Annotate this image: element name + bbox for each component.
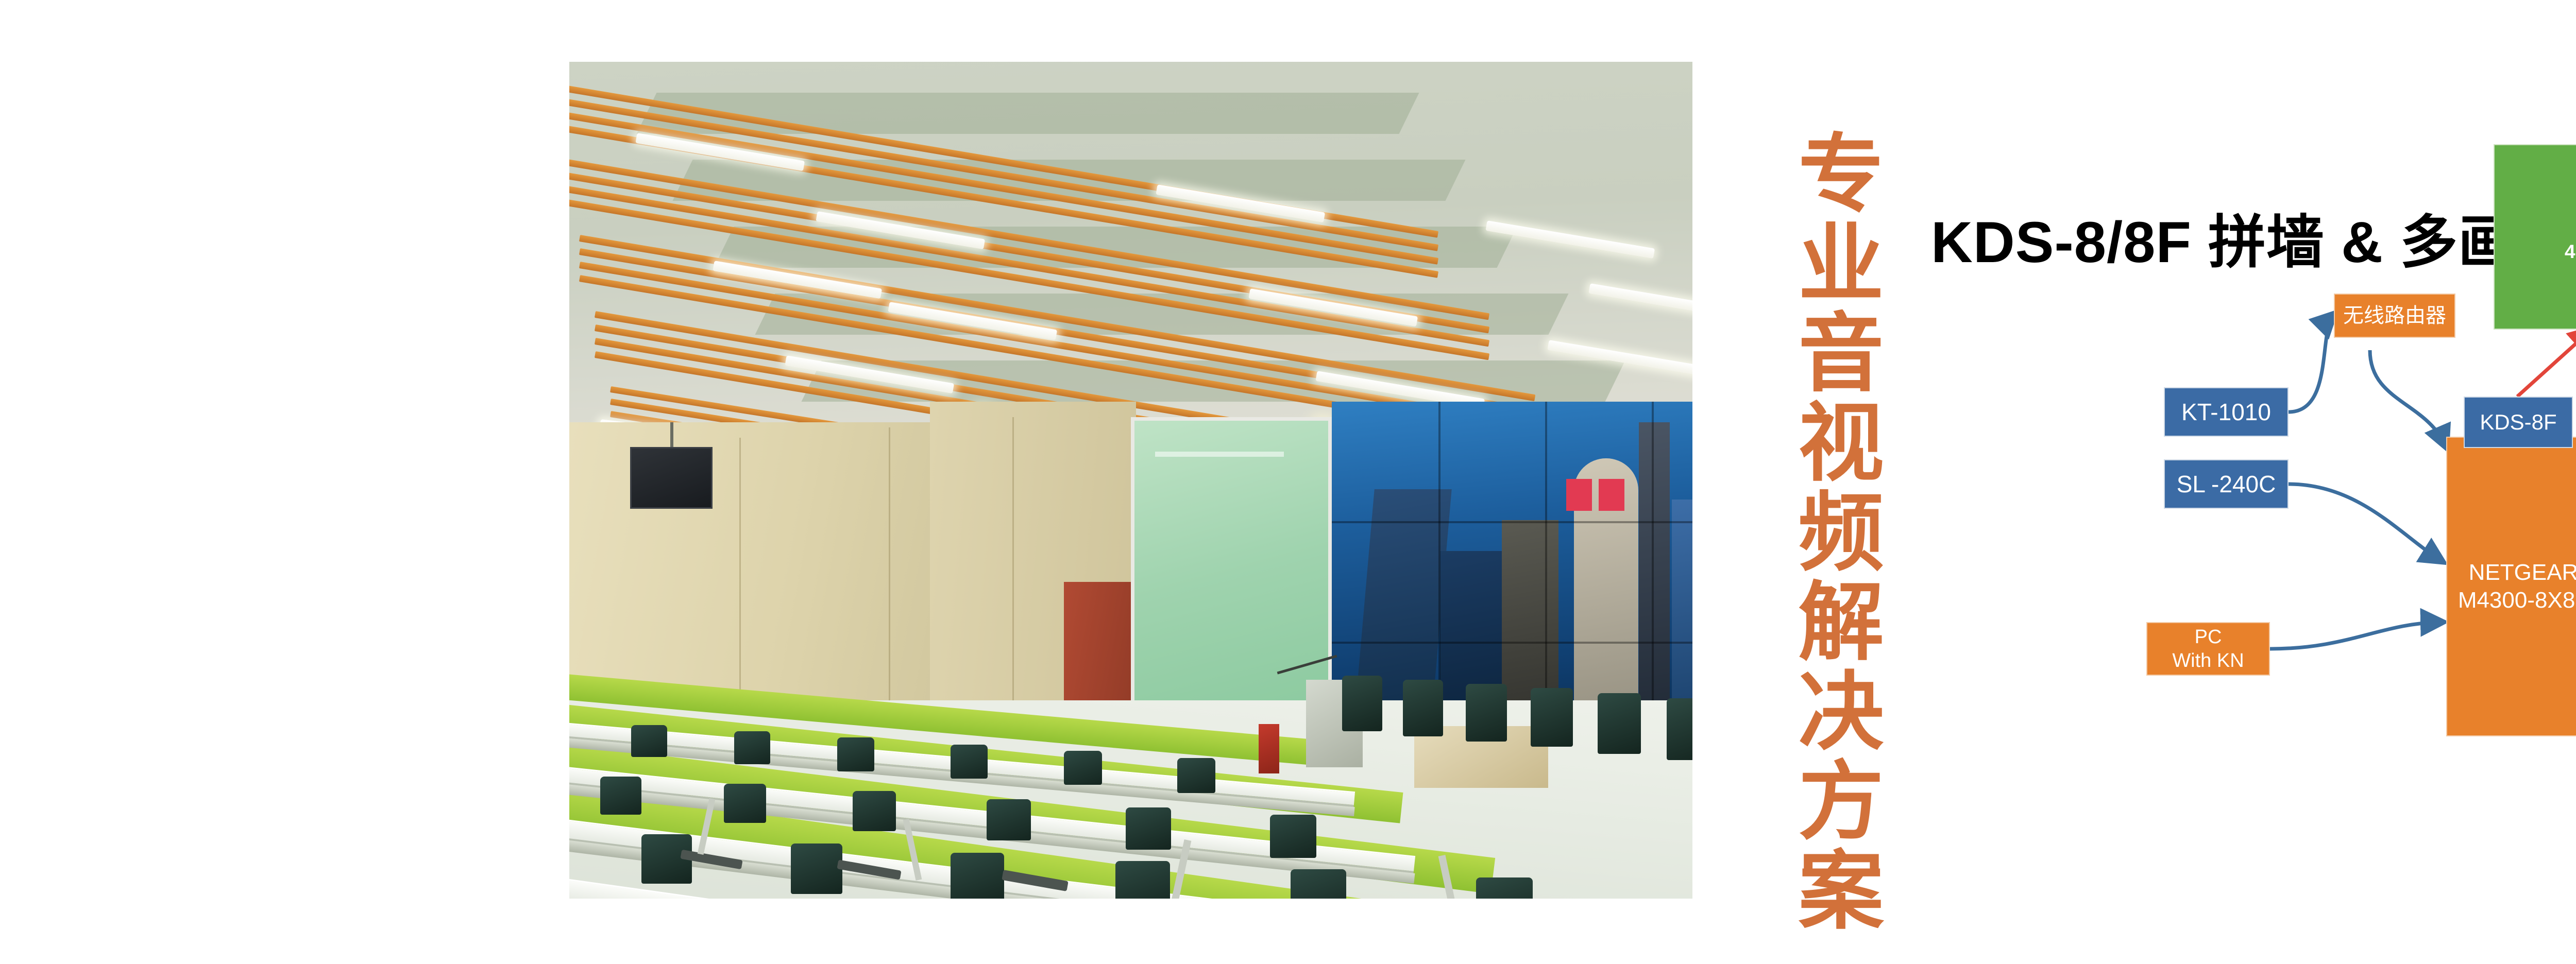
speaker-mount-rod bbox=[670, 422, 673, 449]
control-pc[interactable]: PC With KN bbox=[2146, 622, 2270, 676]
chair bbox=[951, 853, 1004, 899]
display-multiview[interactable]: 多画面 4K电视机 - 1 bbox=[2494, 144, 2576, 330]
chair bbox=[1531, 688, 1573, 747]
wireless-router-label: 无线路由器 bbox=[2343, 303, 2446, 329]
diagram-title: KDS-8/8F 拼墙 & 多画面 bbox=[1931, 196, 2574, 279]
decoder-kds8f-1-label: KDS-8F bbox=[2480, 409, 2556, 435]
chair bbox=[853, 791, 896, 831]
chair bbox=[1177, 758, 1215, 793]
chair bbox=[1291, 869, 1346, 899]
network-switch[interactable]: NETGEAR M4300-8X8F bbox=[2446, 437, 2576, 736]
page-title-vertical: 专业音视频解决方案 bbox=[1753, 129, 1876, 814]
chair bbox=[734, 731, 770, 764]
panel-bezel bbox=[1332, 521, 1692, 523]
chair bbox=[631, 725, 667, 757]
network-switch-model: M4300-8X8F bbox=[2458, 587, 2576, 614]
system-diagram: KDS-8/8F 拼墙 & 多画面 bbox=[1906, 41, 2576, 917]
chair bbox=[1476, 877, 1533, 899]
fire-extinguisher bbox=[1259, 724, 1279, 773]
slide-canvas: 4K 3,840 x 2,160 bbox=[0, 0, 2576, 964]
chair bbox=[1598, 693, 1641, 754]
chair bbox=[1403, 680, 1443, 736]
panel-bezel bbox=[1332, 642, 1692, 644]
ceiling-monitor bbox=[630, 447, 713, 509]
chair bbox=[724, 784, 766, 823]
decoder-kds8f-1[interactable]: KDS-8F bbox=[2464, 397, 2573, 448]
chair bbox=[791, 843, 842, 894]
board-glare bbox=[1155, 452, 1284, 457]
chair bbox=[1126, 807, 1171, 850]
chair bbox=[1270, 815, 1316, 858]
chair bbox=[1466, 684, 1507, 742]
source-kt1010[interactable]: KT-1010 bbox=[2164, 387, 2289, 437]
control-pc-label: PC bbox=[2195, 625, 2222, 649]
lecture-hall-photo: 4K 3,840 x 2,160 bbox=[569, 62, 1692, 899]
source-sl240c-label: SL -240C bbox=[2177, 470, 2276, 498]
chair bbox=[600, 777, 641, 815]
wireless-router[interactable]: 无线路由器 bbox=[2334, 294, 2455, 338]
chair bbox=[987, 799, 1031, 840]
source-kt1010-label: KT-1010 bbox=[2181, 398, 2271, 426]
chair bbox=[951, 745, 988, 779]
chair bbox=[1115, 861, 1170, 899]
building-sign bbox=[1566, 479, 1592, 511]
chair bbox=[837, 737, 874, 771]
building-sign bbox=[1599, 479, 1624, 511]
chair bbox=[1064, 751, 1102, 785]
chair bbox=[1667, 698, 1692, 760]
multiview-label-sub: 4K电视机 - 1 bbox=[2565, 240, 2576, 264]
ceiling-panel bbox=[636, 93, 1419, 134]
control-pc-sublabel: With KN bbox=[2172, 649, 2244, 673]
source-sl240c[interactable]: SL -240C bbox=[2164, 459, 2289, 509]
chair bbox=[1342, 676, 1382, 731]
network-switch-brand: NETGEAR bbox=[2469, 559, 2576, 587]
